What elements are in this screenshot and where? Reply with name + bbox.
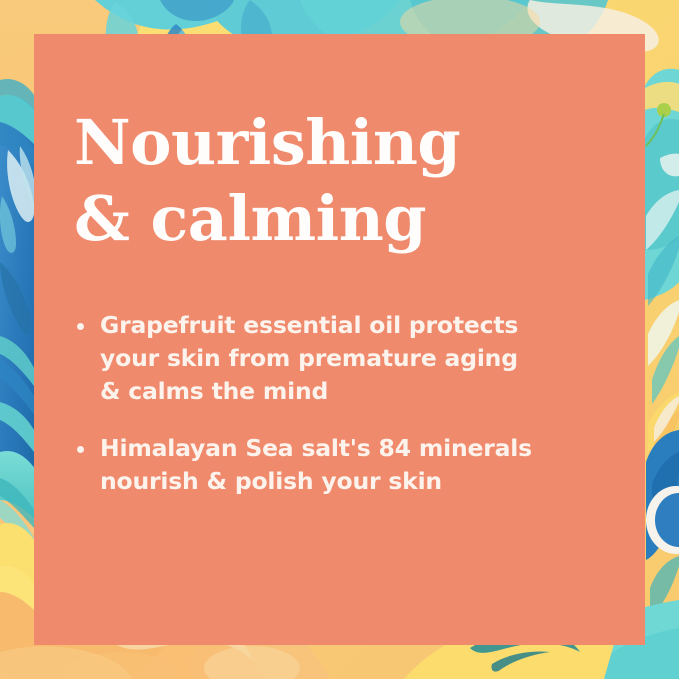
- list-item-line: & calms the mind: [100, 375, 584, 408]
- list-item: Grapefruit essential oil protects your s…: [74, 309, 584, 408]
- page-title-line-1: Nourishing: [74, 105, 574, 181]
- list-item: Himalayan Sea salt's 84 minerals nourish…: [74, 432, 584, 498]
- list-item-text: Himalayan Sea salt's 84 minerals nourish…: [100, 432, 584, 498]
- list-item-line: nourish & polish your skin: [100, 465, 584, 498]
- benefits-list: Grapefruit essential oil protects your s…: [74, 309, 584, 498]
- list-item-line: Himalayan Sea salt's 84 minerals: [100, 432, 584, 465]
- bullet-dot-icon: [77, 446, 84, 453]
- bullet-dot-icon: [77, 323, 84, 330]
- page-title-line-2: & calming: [74, 181, 574, 257]
- list-item-line: your skin from premature aging: [100, 342, 584, 375]
- list-item-text: Grapefruit essential oil protects your s…: [100, 309, 584, 408]
- product-feature-card: Nourishing & calming Grapefruit essentia…: [0, 0, 679, 679]
- list-item-line: Grapefruit essential oil protects: [100, 309, 584, 342]
- page-title: Nourishing & calming: [74, 105, 574, 257]
